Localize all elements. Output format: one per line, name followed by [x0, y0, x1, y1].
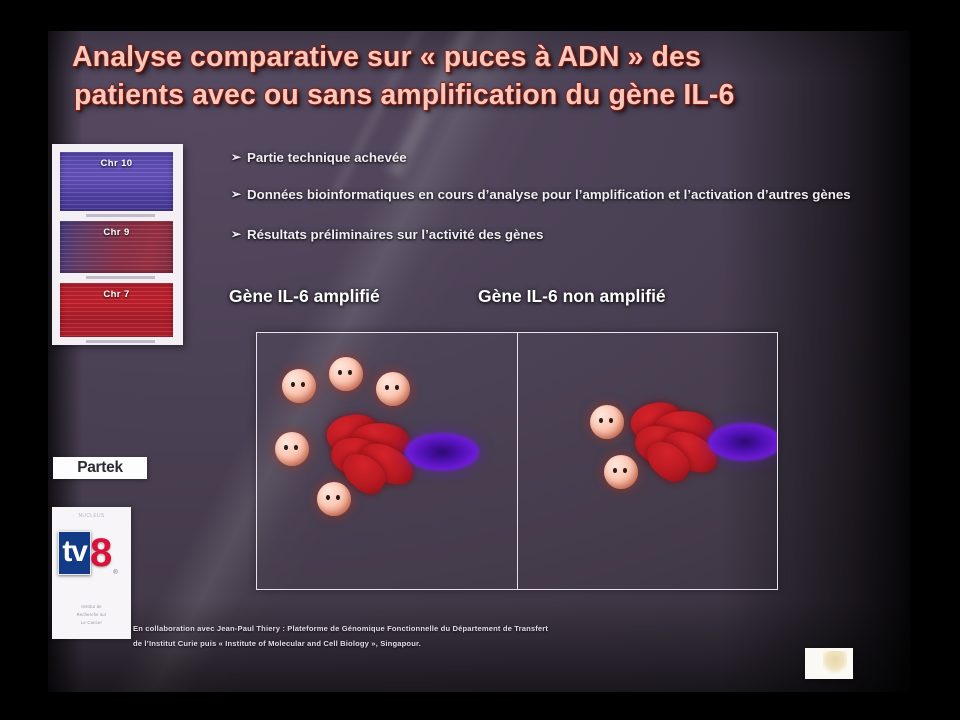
tv8-number-text: 8	[90, 536, 112, 570]
figure-panel-non-amplified	[517, 333, 778, 589]
institute-caption-line-2: Recherche sur	[58, 611, 125, 619]
bullet-list: ➢ Partie technique achevée ➢ Données bio…	[231, 148, 856, 262]
slide-title-line-1: Analyse comparative sur « puces à ADN » …	[72, 39, 884, 77]
chromosome-label: Chr 7	[60, 289, 173, 300]
bullet-text: Données bioinformatiques en cours d’anal…	[247, 187, 851, 202]
footer-logo-mark-icon	[823, 651, 847, 676]
bullet-item: ➢ Résultats préliminaires sur l’activité…	[231, 225, 856, 245]
tv8-tv-text: tv	[58, 531, 91, 575]
footer-institute-logo	[805, 648, 853, 679]
cell-nucleus-dot-icon	[348, 370, 352, 375]
footer-line-1: En collaboration avec Jean-Paul Thiery :…	[133, 622, 703, 637]
cell-nucleus-dot-icon	[609, 418, 613, 423]
figure-panel-amplified	[257, 333, 517, 589]
arrow-bullet-icon: ➢	[231, 185, 241, 203]
cell-nucleus-dot-icon	[291, 382, 295, 387]
partek-logo-label: Partek	[77, 459, 123, 477]
cell-nucleus-dot-icon	[294, 445, 298, 450]
purple-nucleus-illustration	[708, 423, 778, 461]
cell-nucleus-dot-icon	[284, 445, 288, 450]
bullet-item: ➢ Données bioinformatiques en cours d’an…	[231, 185, 856, 205]
bullet-text: Résultats préliminaires sur l’activité d…	[247, 227, 543, 242]
chromosome-panel-chr10: Chr 10	[60, 152, 173, 211]
tv8-channel-watermark: tv 8 ®	[54, 529, 122, 576]
slide-title: Analyse comparative sur « puces à ADN » …	[72, 39, 884, 114]
arrow-bullet-icon: ➢	[231, 225, 241, 243]
cell-illustration	[590, 405, 624, 439]
cell-illustration	[329, 357, 363, 391]
presentation-slide: Analyse comparative sur « puces à ADN » …	[48, 31, 910, 692]
institute-caption-line-1: Institut de	[58, 603, 125, 611]
chromosome-label: Chr 9	[60, 227, 173, 238]
chromosome-heatmap-card: Chr 10 Chr 9 Chr 7	[52, 144, 183, 345]
institute-card-header: NUCLEUS	[56, 513, 127, 519]
registered-trademark-icon: ®	[113, 570, 117, 576]
institute-caption-line-3: Le Cancer	[58, 619, 125, 627]
partek-logo: Partek	[53, 457, 147, 479]
slide-title-line-2: patients avec ou sans amplification du g…	[72, 77, 884, 115]
cell-nucleus-dot-icon	[385, 385, 389, 390]
cell-nucleus-dot-icon	[613, 468, 617, 473]
footer-line-2: de l’Institut Curie puis « Institute of …	[133, 637, 703, 652]
cell-illustration	[376, 372, 410, 406]
chromosome-panel-chr7: Chr 7	[60, 283, 173, 337]
bullet-item: ➢ Partie technique achevée	[231, 148, 856, 168]
column-heading-non-amplified: Gène IL-6 non amplifié	[478, 286, 666, 307]
slide-footer-credit: En collaboration avec Jean-Paul Thiery :…	[133, 622, 703, 652]
screen: Analyse comparative sur « puces à ADN » …	[0, 0, 960, 720]
chromosome-ideogram-bar	[86, 276, 155, 279]
chromosome-ideogram-bar	[86, 340, 155, 343]
chromosome-label: Chr 10	[60, 158, 173, 169]
institute-card-caption: Institut de Recherche sur Le Cancer	[58, 603, 125, 627]
cell-nucleus-dot-icon	[301, 382, 305, 387]
chromosome-panel-chr9: Chr 9	[60, 221, 173, 273]
cell-nucleus-dot-icon	[338, 370, 342, 375]
cell-nucleus-dot-icon	[599, 418, 603, 423]
bullet-text: Partie technique achevée	[247, 150, 407, 165]
cell-illustration	[282, 369, 316, 403]
arrow-bullet-icon: ➢	[231, 148, 241, 166]
cell-illustration	[275, 432, 309, 466]
column-heading-amplified: Gène IL-6 amplifié	[229, 286, 380, 307]
cell-nucleus-dot-icon	[395, 385, 399, 390]
chromosome-ideogram-bar	[86, 214, 155, 217]
purple-nucleus-illustration	[405, 433, 479, 471]
comparison-figure	[256, 332, 778, 590]
